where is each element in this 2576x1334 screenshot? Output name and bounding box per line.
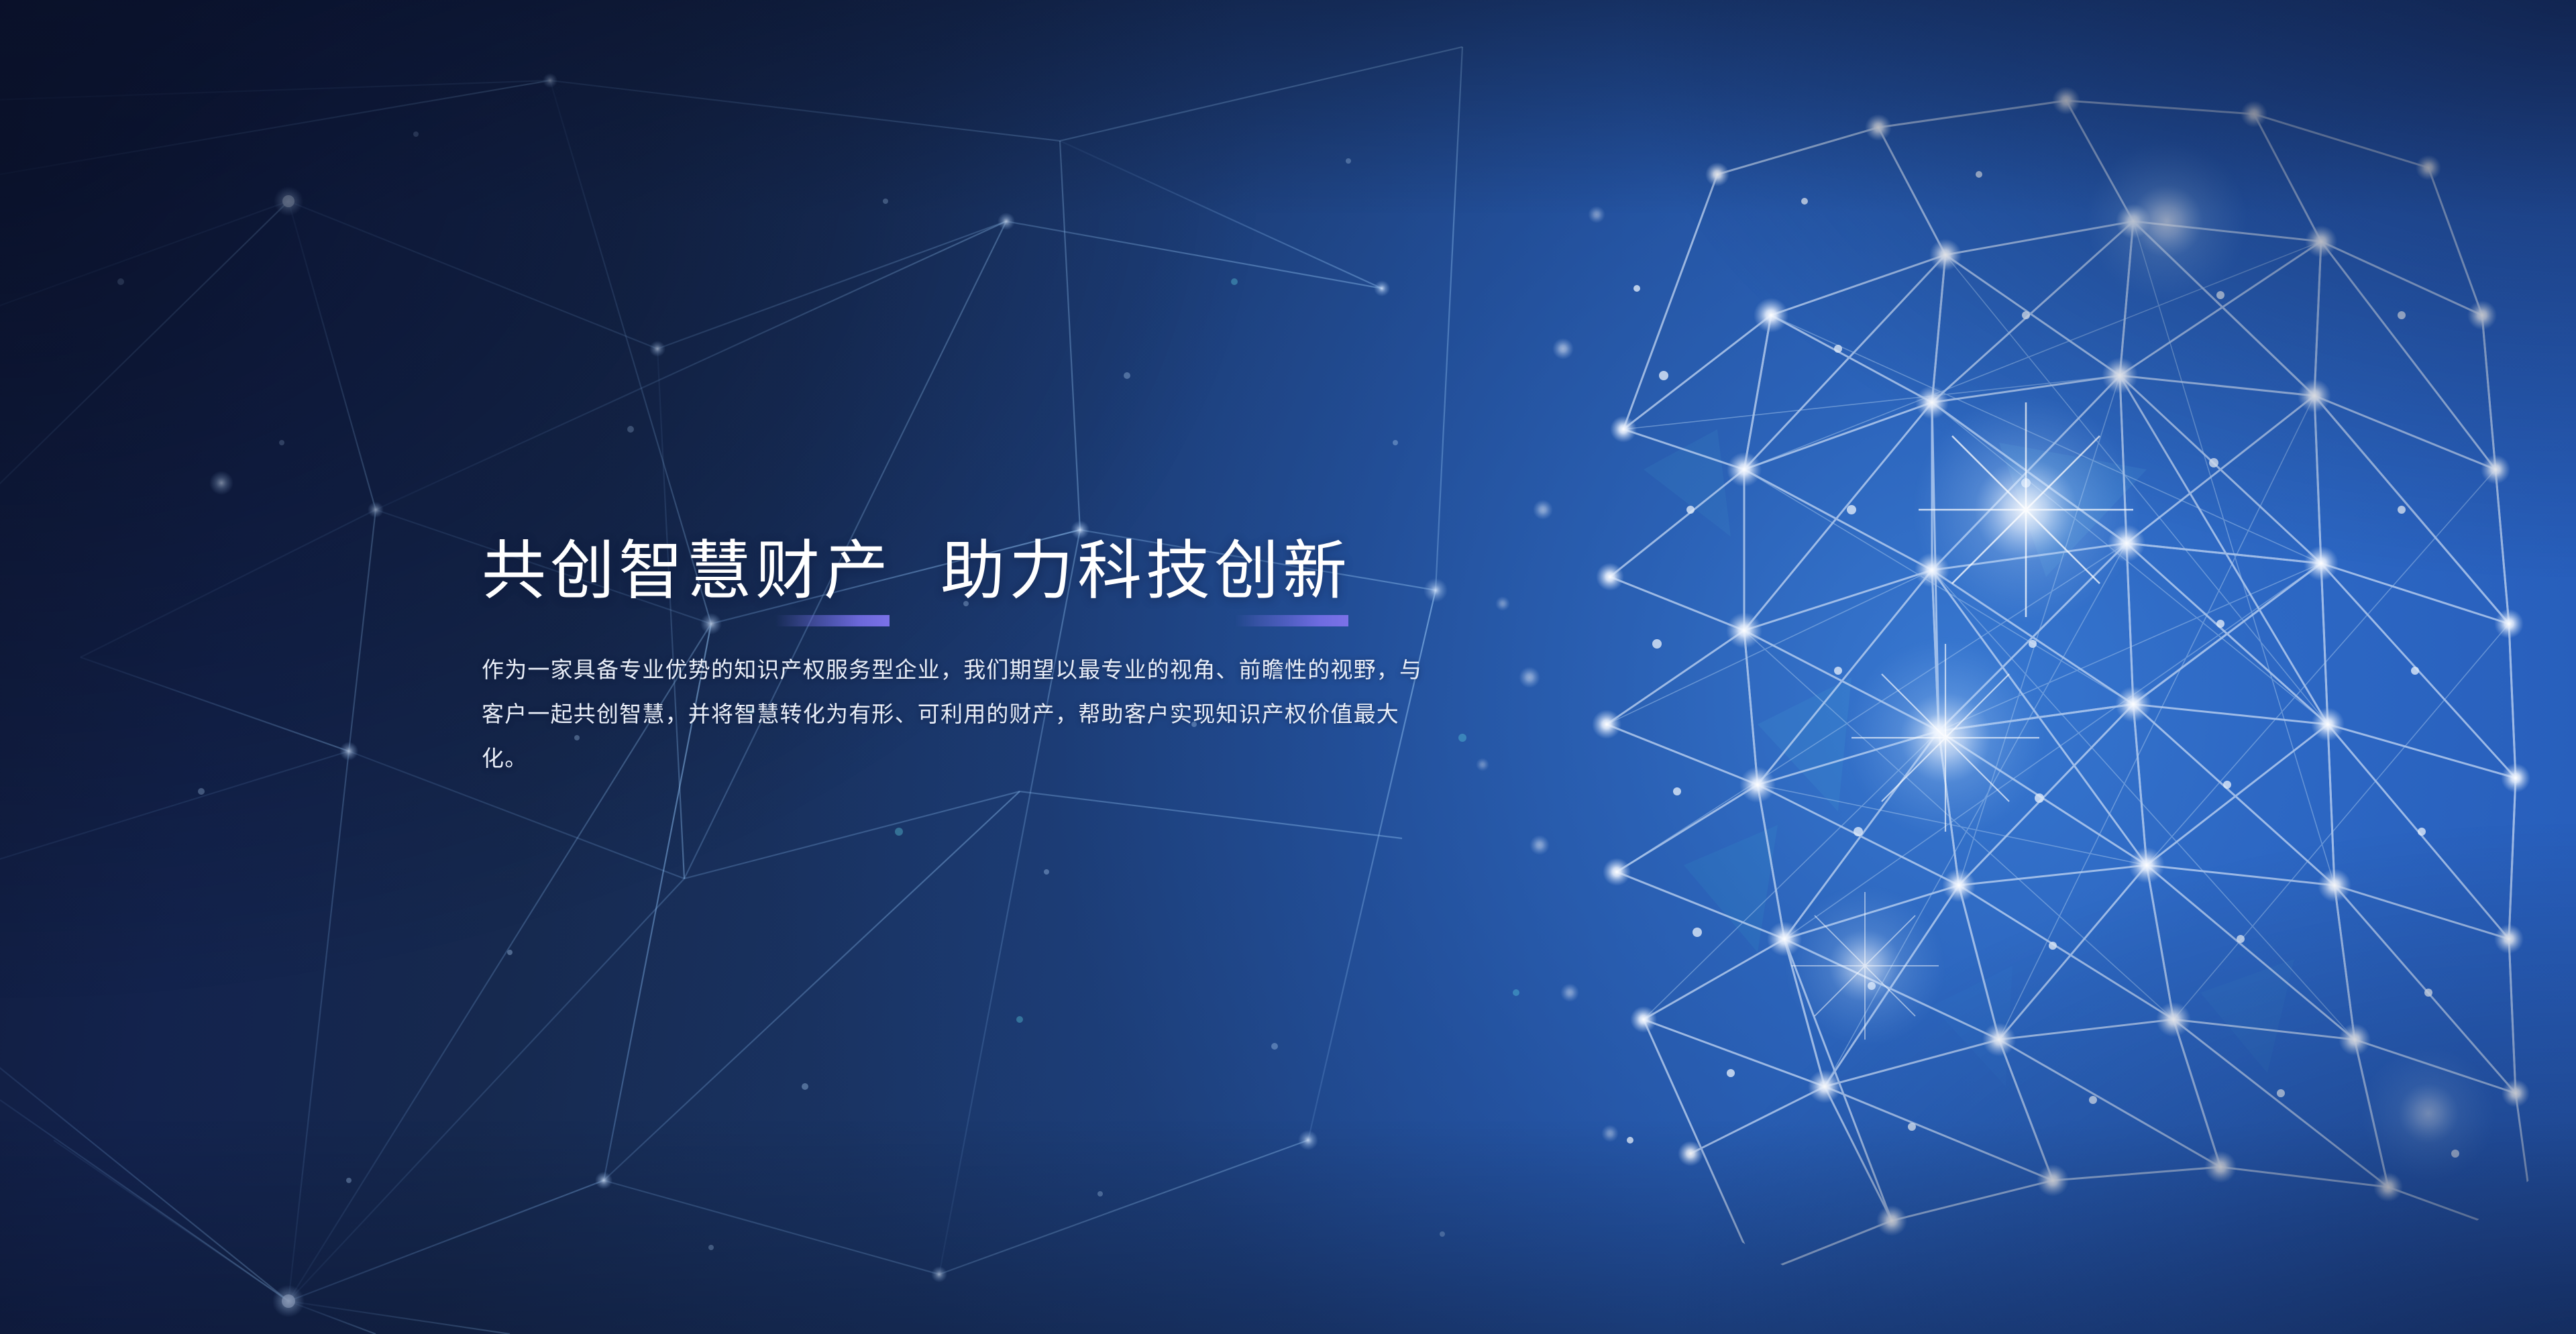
headline-group-1: 共创智慧财产 <box>482 537 892 606</box>
headline-accent-rule-2 <box>1234 615 1348 626</box>
hero-description: 作为一家具备专业优势的知识产权服务型企业，我们期望以最专业的视角、前瞻性的视野，… <box>482 648 1434 781</box>
headline-line-1: 共创智慧财产 <box>482 537 892 606</box>
headline-accent-rule-1 <box>775 615 890 626</box>
headline-group-2: 助力科技创新 <box>941 537 1351 606</box>
hero-banner: 共创智慧财产 助力科技创新 作为一家具备专业优势的知识产权服务型企业，我们期望以… <box>0 0 2576 1334</box>
headline-line-2: 助力科技创新 <box>941 537 1351 606</box>
headline-body-spacer <box>482 606 1468 648</box>
page-title: 共创智慧财产 助力科技创新 <box>482 537 1468 606</box>
hero-description-text: 作为一家具备专业优势的知识产权服务型企业，我们期望以最专业的视角、前瞻性的视野，… <box>482 648 1434 781</box>
hero-copy-block: 共创智慧财产 助力科技创新 作为一家具备专业优势的知识产权服务型企业，我们期望以… <box>482 537 1468 781</box>
